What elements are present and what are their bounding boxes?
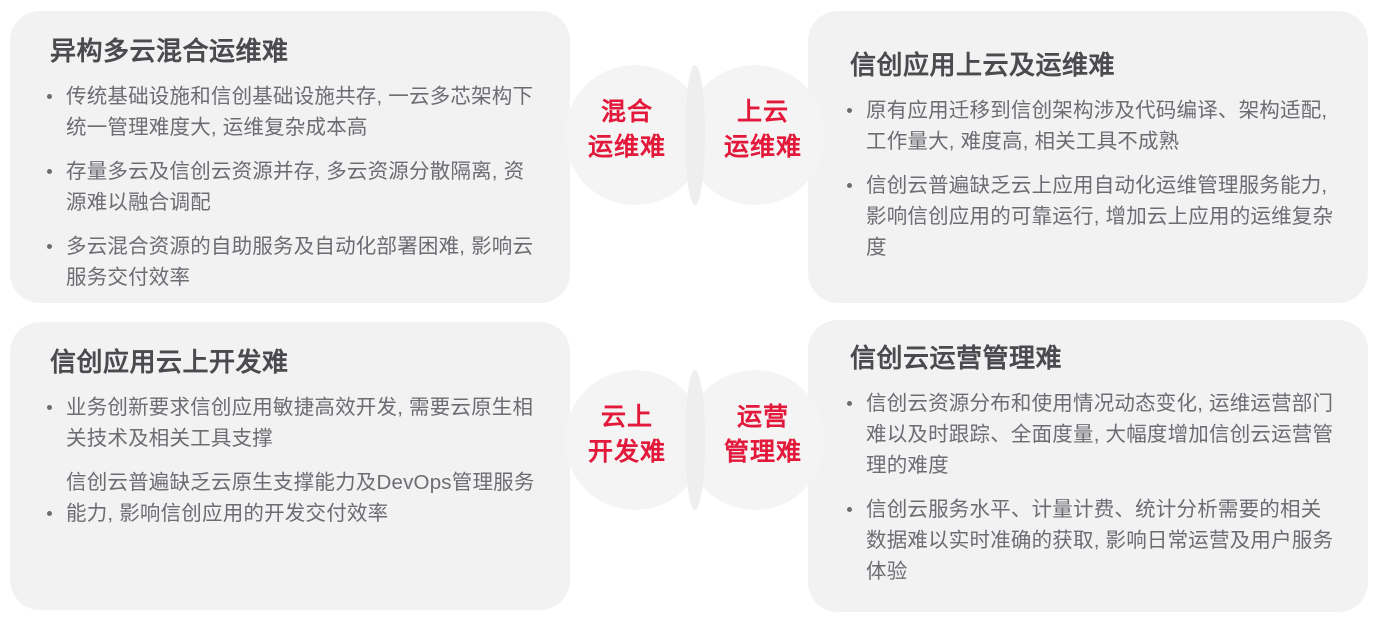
venn-diagram-top: 混合 运维难 上云 运维难 <box>565 65 825 205</box>
card-bottom-left: 信创应用云上开发难 业务创新要求信创应用敏捷高效开发, 需要云原生相关技术及相关… <box>10 322 570 610</box>
bullet-text: 信创云服务水平、计量计费、统计分析需要的相关数据难以实时准确的获取, 影响日常运… <box>866 498 1333 583</box>
bullet-text: 业务创新要求信创应用敏捷高效开发, 需要云原生相关技术及相关工具支撑 <box>66 396 533 450</box>
venn-label-right: 上云 运维难 <box>693 95 833 165</box>
bullet-text: 多云混合资源的自助服务及自动化部署困难, 影响云服务交付效率 <box>66 235 533 289</box>
bullet-list-top-left: 传统基础设施和信创基础设施共存, 一云多芯架构下统一管理难度大, 运维复杂成本高… <box>44 81 540 293</box>
bullet-dot-icon <box>47 94 52 99</box>
card-title-bottom-right: 信创云运营管理难 <box>850 344 1338 374</box>
bullet-dot-icon <box>847 183 852 188</box>
venn-diagram-bottom: 云上 开发难 运营 管理难 <box>565 370 825 510</box>
list-item: 信创云服务水平、计量计费、统计分析需要的相关数据难以实时准确的获取, 影响日常运… <box>844 494 1338 587</box>
list-item: 信创云普遍缺乏云上应用自动化运维管理服务能力, 影响信创应用的可靠运行, 增加云… <box>844 170 1338 263</box>
bullet-text: 存量多云及信创云资源并存, 多云资源分散隔离, 资源难以融合调配 <box>66 160 524 214</box>
bullet-list-bottom-left: 业务创新要求信创应用敏捷高效开发, 需要云原生相关技术及相关工具支撑 信创云普遍… <box>44 392 540 529</box>
venn-label-left: 云上 开发难 <box>557 400 697 470</box>
bullet-dot-icon <box>47 244 52 249</box>
card-title-top-right: 信创应用上云及运维难 <box>850 51 1338 81</box>
bullet-dot-icon <box>47 511 52 516</box>
venn-label-left: 混合 运维难 <box>557 95 697 165</box>
list-item: 传统基础设施和信创基础设施共存, 一云多芯架构下统一管理难度大, 运维复杂成本高 <box>44 81 540 143</box>
list-item: 业务创新要求信创应用敏捷高效开发, 需要云原生相关技术及相关工具支撑 <box>44 392 540 454</box>
list-item: 信创云普遍缺乏云原生支撑能力及DevOps管理服务能力, 影响信创应用的开发交付… <box>44 467 540 529</box>
bullet-dot-icon <box>847 108 852 113</box>
list-item: 原有应用迁移到信创架构涉及代码编译、架构适配, 工作量大, 难度高, 相关工具不… <box>844 95 1338 157</box>
bullet-list-top-right: 原有应用迁移到信创架构涉及代码编译、架构适配, 工作量大, 难度高, 相关工具不… <box>844 95 1338 263</box>
card-bottom-right: 信创云运营管理难 信创云资源分布和使用情况动态变化, 运维运营部门难以及时跟踪、… <box>808 320 1368 612</box>
bullet-text: 传统基础设施和信创基础设施共存, 一云多芯架构下统一管理难度大, 运维复杂成本高 <box>66 85 533 139</box>
list-item: 存量多云及信创云资源并存, 多云资源分散隔离, 资源难以融合调配 <box>44 156 540 218</box>
card-top-left: 异构多云混合运维难 传统基础设施和信创基础设施共存, 一云多芯架构下统一管理难度… <box>10 11 570 303</box>
card-title-bottom-left: 信创应用云上开发难 <box>50 348 540 378</box>
bullet-dot-icon <box>847 507 852 512</box>
venn-label-right: 运营 管理难 <box>693 400 833 470</box>
bullet-dot-icon <box>47 405 52 410</box>
bullet-dot-icon <box>847 401 852 406</box>
list-item: 多云混合资源的自助服务及自动化部署困难, 影响云服务交付效率 <box>44 231 540 293</box>
bullet-list-bottom-right: 信创云资源分布和使用情况动态变化, 运维运营部门难以及时跟踪、全面度量, 大幅度… <box>844 388 1338 587</box>
bullet-text: 原有应用迁移到信创架构涉及代码编译、架构适配, 工作量大, 难度高, 相关工具不… <box>866 99 1327 153</box>
bullet-text: 信创云普遍缺乏云上应用自动化运维管理服务能力, 影响信创应用的可靠运行, 增加云… <box>866 174 1333 259</box>
card-top-right: 信创应用上云及运维难 原有应用迁移到信创架构涉及代码编译、架构适配, 工作量大,… <box>808 11 1368 303</box>
bullet-text: 信创云普遍缺乏云原生支撑能力及DevOps管理服务能力, 影响信创应用的开发交付… <box>66 471 535 525</box>
infographic-canvas: 异构多云混合运维难 传统基础设施和信创基础设施共存, 一云多芯架构下统一管理难度… <box>0 0 1378 620</box>
card-title-top-left: 异构多云混合运维难 <box>50 37 540 67</box>
bullet-text: 信创云资源分布和使用情况动态变化, 运维运营部门难以及时跟踪、全面度量, 大幅度… <box>866 392 1333 477</box>
list-item: 信创云资源分布和使用情况动态变化, 运维运营部门难以及时跟踪、全面度量, 大幅度… <box>844 388 1338 481</box>
bullet-dot-icon <box>47 169 52 174</box>
